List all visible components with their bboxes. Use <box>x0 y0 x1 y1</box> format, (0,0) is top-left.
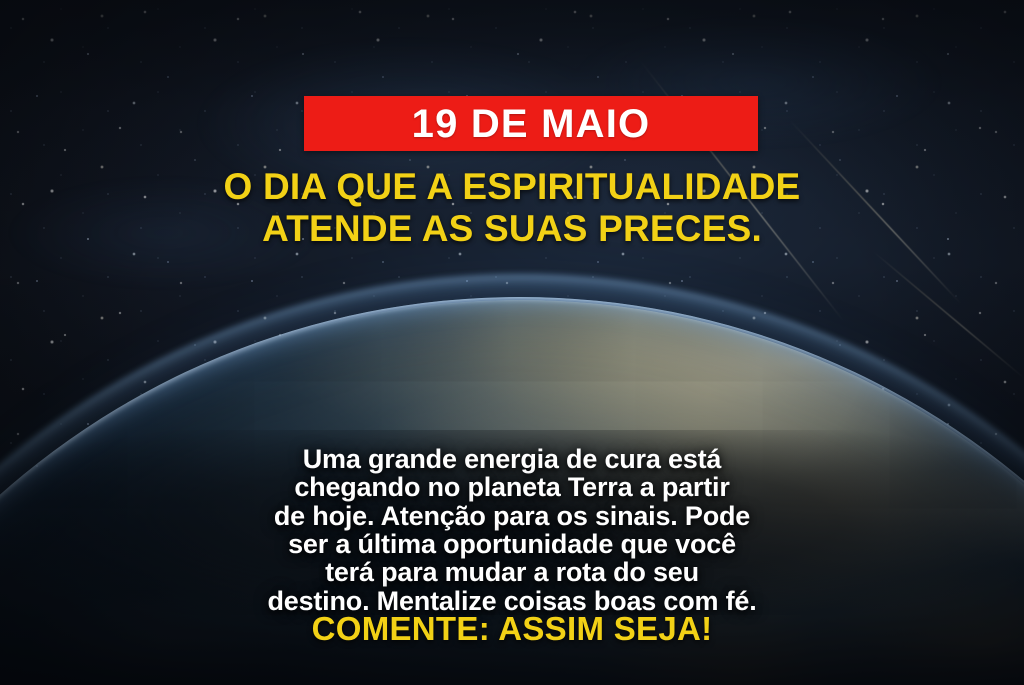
headline-line-1: O DIA QUE A ESPIRITUALIDADE <box>0 166 1024 208</box>
body-line-1: Uma grande energia de cura está <box>50 445 974 473</box>
date-banner-label: 19 DE MAIO <box>412 104 651 144</box>
headline: O DIA QUE A ESPIRITUALIDADE ATENDE AS SU… <box>0 166 1024 250</box>
body-line-5: terá para mudar a rota do seu <box>50 558 974 586</box>
body-line-4: ser a última oportunidade que você <box>50 530 974 558</box>
date-banner: 19 DE MAIO <box>304 96 758 151</box>
body-line-2: chegando no planeta Terra a partir <box>50 473 974 501</box>
call-to-action: COMENTE: ASSIM SEJA! <box>0 612 1024 645</box>
poster-content: 19 DE MAIO O DIA QUE A ESPIRITUALIDADE A… <box>0 0 1024 685</box>
poster-canvas: 19 DE MAIO O DIA QUE A ESPIRITUALIDADE A… <box>0 0 1024 685</box>
body-copy: Uma grande energia de cura está chegando… <box>50 445 974 615</box>
cta-label: COMENTE: ASSIM SEJA! <box>312 610 713 647</box>
headline-line-2: ATENDE AS SUAS PRECES. <box>0 208 1024 250</box>
body-line-3: de hoje. Atenção para os sinais. Pode <box>50 502 974 530</box>
